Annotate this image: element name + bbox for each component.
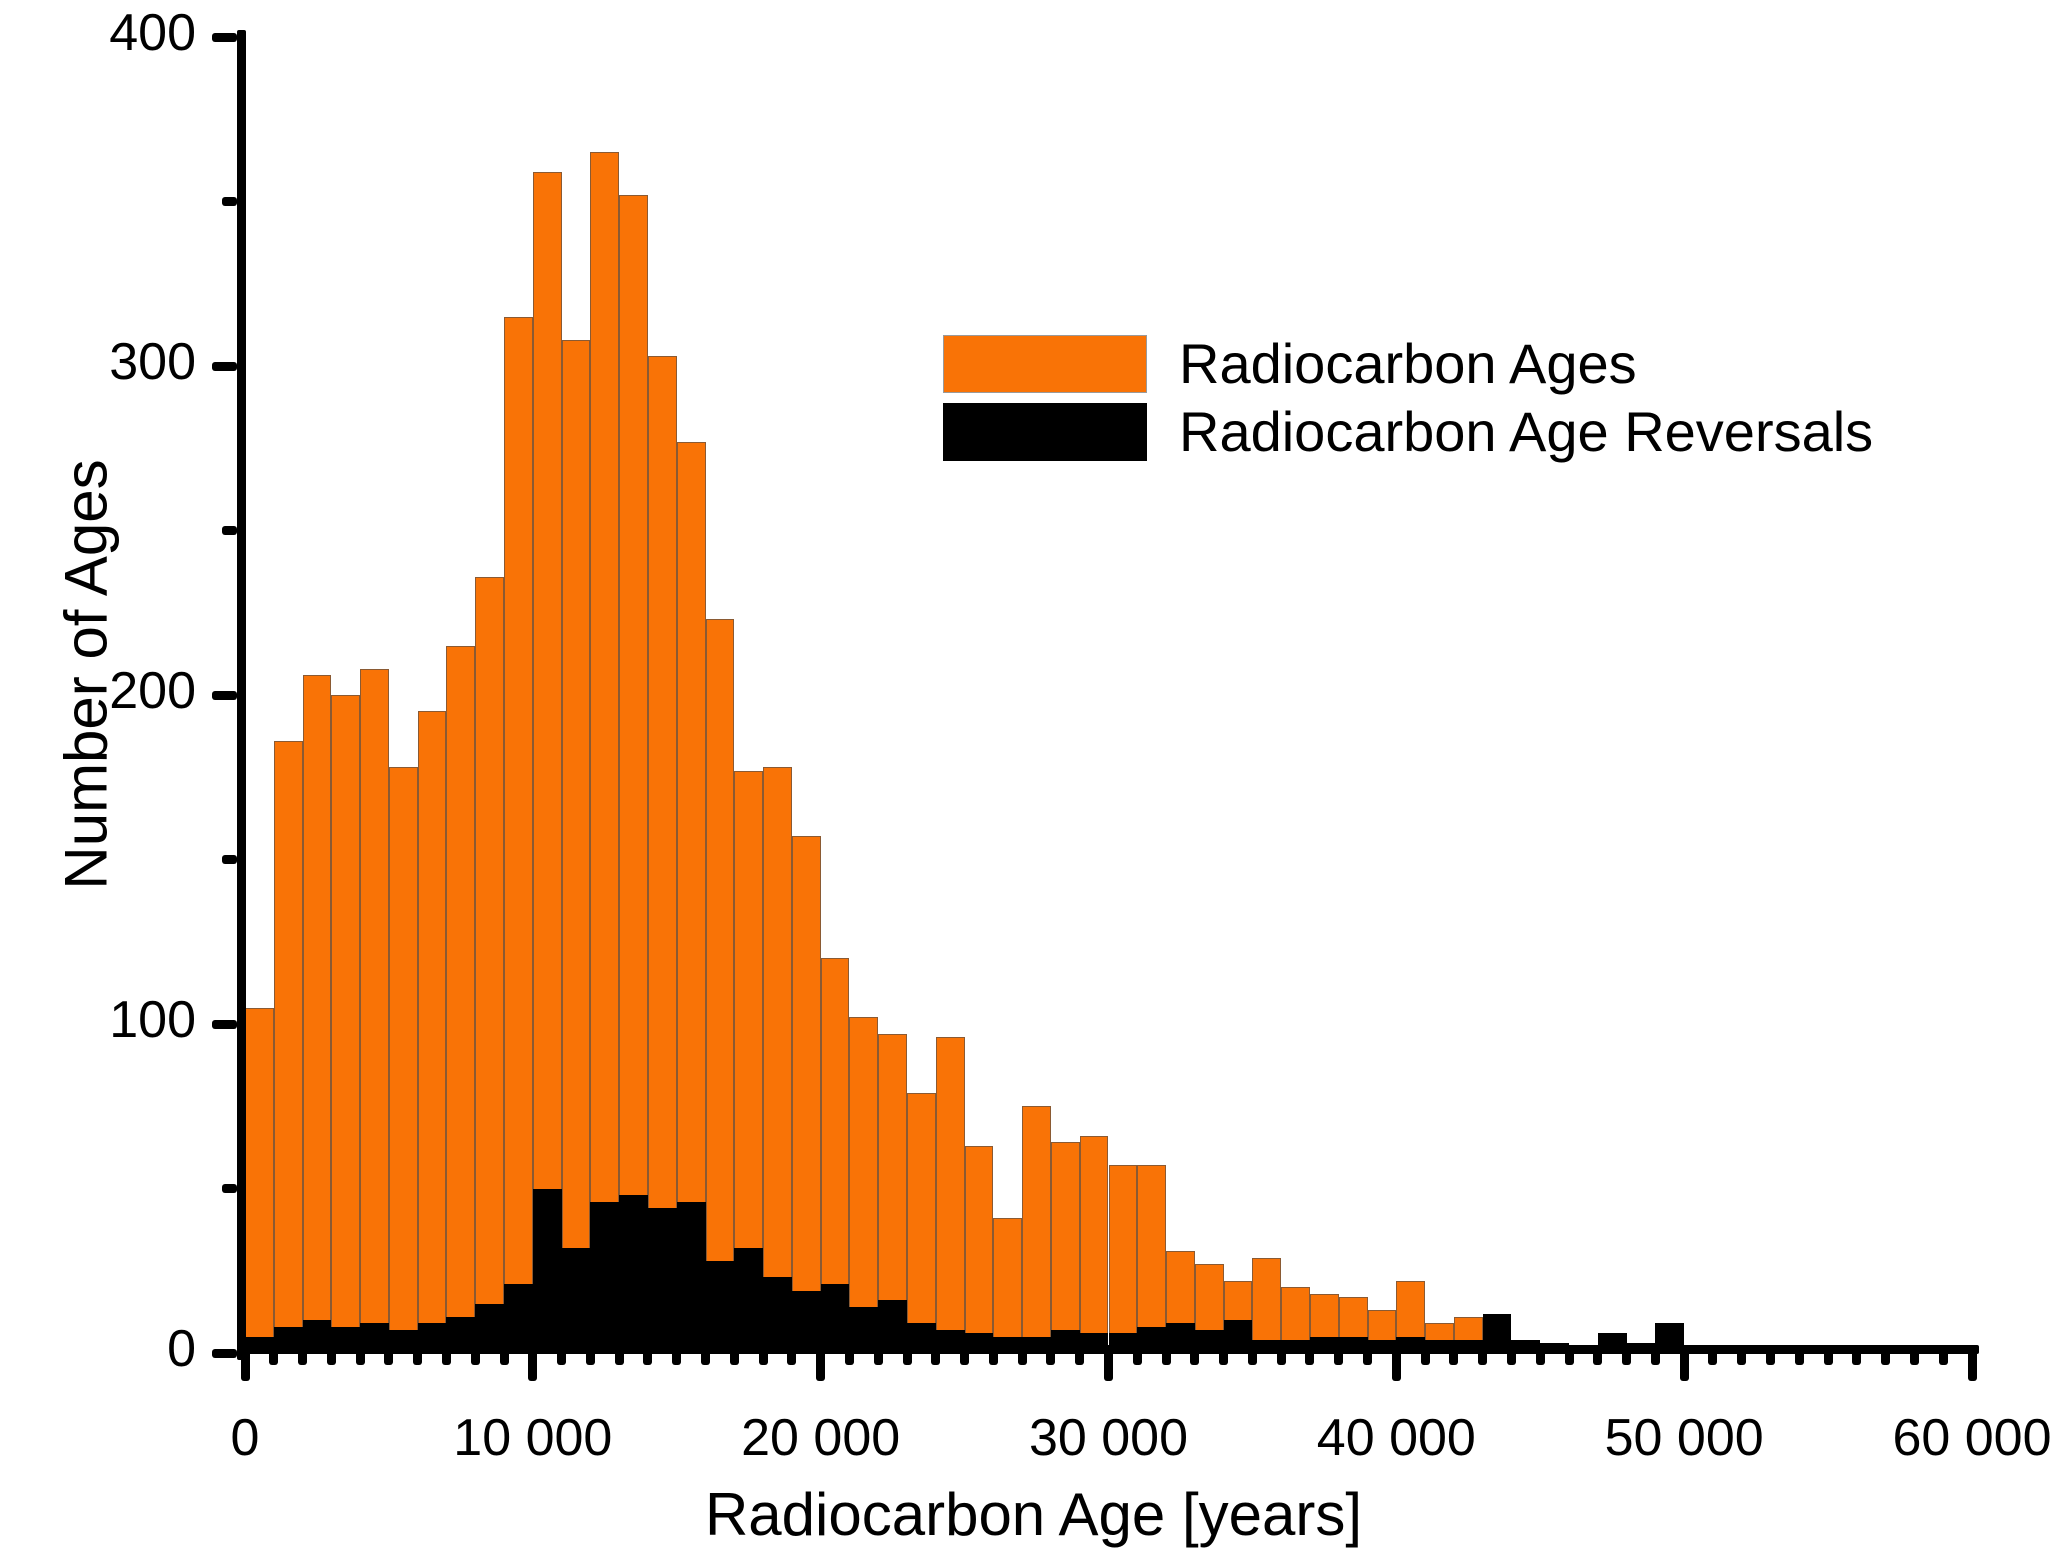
x-axis-minor-tick xyxy=(384,1345,393,1365)
y-axis-minor-tick xyxy=(222,1184,237,1193)
x-axis-minor-tick xyxy=(1162,1345,1171,1365)
legend-item-radiocarbon-age-reversals: Radiocarbon Age Reversals xyxy=(943,398,1943,466)
x-axis-tick-label: 0 xyxy=(231,1412,260,1464)
y-axis-line xyxy=(237,30,246,1360)
x-axis-minor-tick xyxy=(615,1345,624,1365)
x-axis-minor-tick xyxy=(1939,1345,1948,1365)
histogram-bar-total xyxy=(418,711,447,1353)
x-axis-minor-tick xyxy=(1219,1345,1228,1365)
x-axis-tick-label: 50 000 xyxy=(1605,1412,1764,1464)
x-axis-minor-tick xyxy=(903,1345,912,1365)
x-axis-minor-tick xyxy=(442,1345,451,1365)
histogram-bar-reversals xyxy=(792,1291,821,1354)
x-axis-minor-tick xyxy=(1910,1345,1919,1365)
histogram-bar-reversals xyxy=(821,1284,850,1353)
x-axis-tick-label: 40 000 xyxy=(1317,1412,1476,1464)
x-axis-minor-tick xyxy=(1305,1345,1314,1365)
histogram-bar-reversals xyxy=(648,1208,677,1353)
histogram-bar-total xyxy=(389,767,418,1353)
bars-layer xyxy=(245,37,1972,1353)
histogram-bar-total xyxy=(303,675,332,1353)
x-axis-minor-tick xyxy=(1737,1345,1746,1365)
x-axis-minor-tick xyxy=(643,1345,652,1365)
histogram-bar-total xyxy=(331,695,360,1353)
x-axis-minor-tick xyxy=(874,1345,883,1365)
y-axis-tick-label: 0 xyxy=(0,1323,196,1375)
x-axis-minor-tick xyxy=(298,1345,307,1365)
histogram-bar-total xyxy=(245,1008,274,1353)
histogram-bar-total xyxy=(533,172,562,1353)
x-axis-minor-tick xyxy=(672,1345,681,1365)
histogram-bar-total xyxy=(792,836,821,1353)
x-axis-minor-tick xyxy=(1277,1345,1286,1365)
x-axis-minor-tick xyxy=(1363,1345,1372,1365)
histogram-bar-total xyxy=(1252,1258,1281,1353)
x-axis-major-tick xyxy=(816,1345,825,1381)
y-axis-minor-tick xyxy=(222,855,237,864)
histogram-bar-total xyxy=(993,1218,1022,1353)
histogram-bar-reversals xyxy=(562,1248,591,1353)
x-axis-minor-tick xyxy=(1507,1345,1516,1365)
histogram-bar-total xyxy=(562,340,591,1353)
x-axis-minor-tick xyxy=(1622,1345,1631,1365)
x-axis-minor-tick xyxy=(1449,1345,1458,1365)
histogram-bar-reversals xyxy=(619,1195,648,1353)
x-axis-minor-tick xyxy=(931,1345,940,1365)
plot-area xyxy=(245,37,1972,1353)
histogram-bar-total xyxy=(648,356,677,1353)
x-axis-minor-tick xyxy=(413,1345,422,1365)
x-axis-minor-tick xyxy=(759,1345,768,1365)
x-axis-tick-label: 10 000 xyxy=(453,1412,612,1464)
x-axis-minor-tick xyxy=(1075,1345,1084,1365)
histogram-bar-reversals xyxy=(706,1261,735,1353)
x-axis-minor-tick xyxy=(327,1345,336,1365)
x-axis-minor-tick xyxy=(730,1345,739,1365)
x-axis-minor-tick xyxy=(1421,1345,1430,1365)
histogram-bar-reversals xyxy=(590,1202,619,1353)
x-axis-minor-tick xyxy=(1766,1345,1775,1365)
x-axis-minor-tick xyxy=(500,1345,509,1365)
x-axis-minor-tick xyxy=(1046,1345,1055,1365)
x-axis-minor-tick xyxy=(1248,1345,1257,1365)
x-axis-minor-tick xyxy=(845,1345,854,1365)
legend-label-radiocarbon-age-reversals: Radiocarbon Age Reversals xyxy=(1179,404,1873,460)
histogram-bar-reversals xyxy=(533,1189,562,1354)
histogram-bar-reversals xyxy=(677,1202,706,1353)
x-axis-minor-tick xyxy=(1018,1345,1027,1365)
y-axis-title: Number of Ages xyxy=(52,315,121,1035)
histogram-bar-total xyxy=(706,619,735,1353)
x-axis-major-tick xyxy=(1680,1345,1689,1381)
orange-swatch-icon xyxy=(943,335,1147,393)
x-axis-minor-tick xyxy=(1565,1345,1574,1365)
x-axis-minor-tick xyxy=(1708,1345,1717,1365)
histogram-bar-total xyxy=(936,1037,965,1353)
x-axis-major-tick xyxy=(1968,1345,1977,1381)
x-axis-minor-tick xyxy=(960,1345,969,1365)
x-axis-minor-tick xyxy=(1593,1345,1602,1365)
histogram-bar-reversals xyxy=(504,1284,533,1353)
histogram-bar-total xyxy=(1051,1142,1080,1353)
x-axis-major-tick xyxy=(1392,1345,1401,1381)
x-axis-minor-tick xyxy=(471,1345,480,1365)
y-axis-major-tick xyxy=(212,691,237,700)
legend-item-radiocarbon-ages: Radiocarbon Ages xyxy=(943,330,1943,398)
histogram-bar-total xyxy=(763,767,792,1353)
y-axis-tick-label: 400 xyxy=(0,7,196,59)
histogram-bar-total xyxy=(504,317,533,1353)
chart-legend: Radiocarbon Ages Radiocarbon Age Reversa… xyxy=(943,330,1943,466)
histogram-bar-total xyxy=(907,1093,936,1353)
histogram-bar-total xyxy=(446,646,475,1353)
y-axis-minor-tick xyxy=(222,526,237,535)
black-swatch-icon xyxy=(943,403,1147,461)
histogram-bar-total xyxy=(475,577,504,1353)
x-axis-minor-tick xyxy=(1334,1345,1343,1365)
x-axis-minor-tick xyxy=(787,1345,796,1365)
x-axis-minor-tick xyxy=(1824,1345,1833,1365)
histogram-bar-total xyxy=(1080,1136,1109,1353)
x-axis-minor-tick xyxy=(269,1345,278,1365)
radiocarbon-histogram-figure: 0100200300400 010 00020 00030 00040 0005… xyxy=(0,0,2067,1565)
y-axis-major-tick xyxy=(212,33,237,42)
x-axis-minor-tick xyxy=(1651,1345,1660,1365)
x-axis-minor-tick xyxy=(1190,1345,1199,1365)
x-axis-tick-label: 20 000 xyxy=(741,1412,900,1464)
y-axis-major-tick xyxy=(212,1349,237,1358)
x-axis-minor-tick xyxy=(989,1345,998,1365)
histogram-bar-reversals xyxy=(763,1277,792,1353)
x-axis-major-tick xyxy=(241,1345,250,1381)
histogram-bar-total xyxy=(619,195,648,1353)
histogram-bar-total xyxy=(1137,1165,1166,1353)
y-axis-major-tick xyxy=(212,362,237,371)
x-axis-minor-tick xyxy=(586,1345,595,1365)
histogram-bar-reversals xyxy=(734,1248,763,1353)
x-axis-minor-tick xyxy=(1795,1345,1804,1365)
histogram-bar-total xyxy=(1109,1165,1138,1353)
x-axis-major-tick xyxy=(1104,1345,1113,1381)
x-axis-minor-tick xyxy=(1536,1345,1545,1365)
x-axis-minor-tick xyxy=(356,1345,365,1365)
x-axis-minor-tick xyxy=(1133,1345,1142,1365)
histogram-bar-total xyxy=(274,741,303,1353)
x-axis-major-tick xyxy=(528,1345,537,1381)
x-axis-minor-tick xyxy=(1478,1345,1487,1365)
histogram-bar-total xyxy=(590,152,619,1353)
histogram-bar-total xyxy=(965,1146,994,1353)
histogram-bar-total xyxy=(849,1017,878,1353)
histogram-bar-total xyxy=(1022,1106,1051,1353)
legend-label-radiocarbon-ages: Radiocarbon Ages xyxy=(1179,336,1637,392)
y-axis-minor-tick xyxy=(222,197,237,206)
histogram-bar-total xyxy=(360,669,389,1353)
y-axis-major-tick xyxy=(212,1020,237,1029)
x-axis-tick-label: 60 000 xyxy=(1892,1412,2051,1464)
x-axis-tick-label: 30 000 xyxy=(1029,1412,1188,1464)
x-axis-minor-tick xyxy=(1881,1345,1890,1365)
x-axis-minor-tick xyxy=(1852,1345,1861,1365)
x-axis-title: Radiocarbon Age [years] xyxy=(0,1480,2067,1549)
x-axis-minor-tick xyxy=(557,1345,566,1365)
x-axis-minor-tick xyxy=(701,1345,710,1365)
